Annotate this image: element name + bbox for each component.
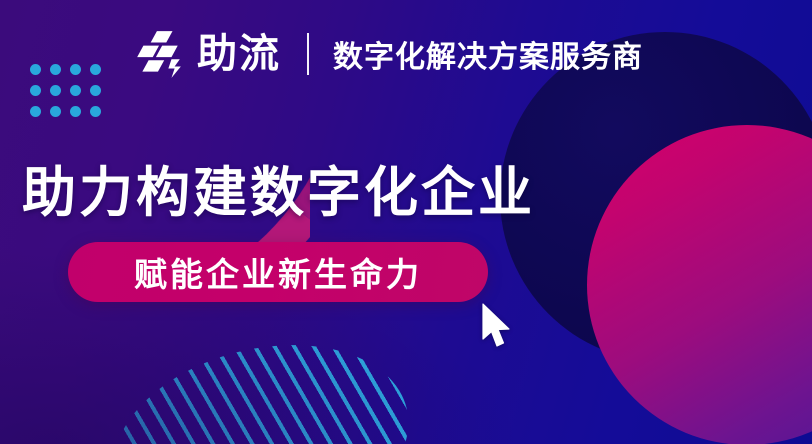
hero-pill-label: 赋能企业新生命力 bbox=[134, 248, 422, 296]
hero-pill-button[interactable]: 赋能企业新生命力 bbox=[68, 242, 488, 302]
hero-headline: 助力构建数字化企业 bbox=[22, 148, 535, 227]
dot-grid-icon bbox=[30, 64, 110, 127]
promo-banner: 助流 数字化解决方案服务商 助力构建数字化企业 赋能企业新生命力 bbox=[0, 0, 812, 444]
brand-tagline: 数字化解决方案服务商 bbox=[333, 32, 643, 76]
magenta-gradient-circle bbox=[587, 125, 812, 444]
mouse-cursor-icon bbox=[480, 302, 514, 350]
lightning-blocks-logo-icon bbox=[133, 28, 185, 80]
brand-name: 助流 bbox=[197, 34, 281, 74]
cyan-stripe-arc bbox=[92, 316, 429, 444]
header-divider bbox=[307, 33, 309, 75]
brand-header: 助流 数字化解决方案服务商 bbox=[133, 24, 643, 84]
